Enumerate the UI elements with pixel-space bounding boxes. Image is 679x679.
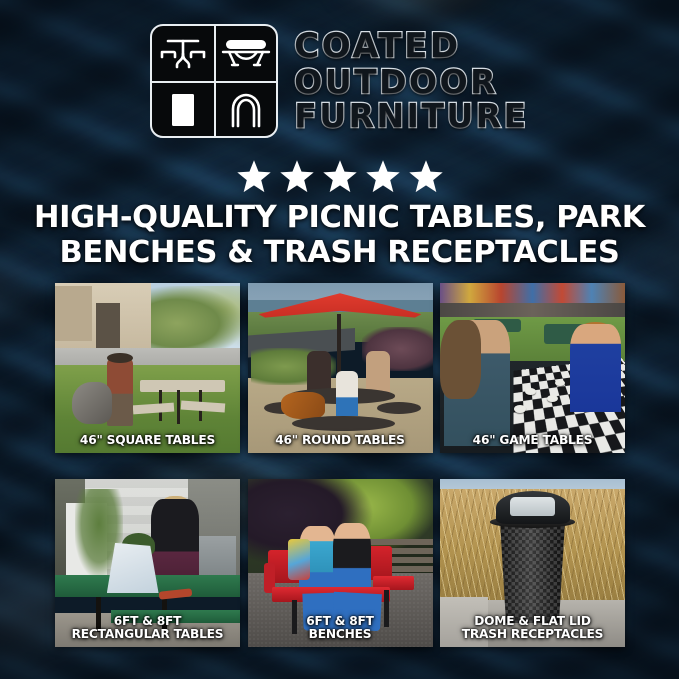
poster-root: COATED OUTDOOR FURNITURE HIGH-QUALITY PI… xyxy=(0,0,679,679)
caption-line-1: DOME & FLAT LID xyxy=(474,614,591,628)
product-photo-round-tables xyxy=(248,283,433,453)
headline-line-1: HIGH-QUALITY PICNIC TABLES, PARK xyxy=(34,200,645,235)
logo-wordmark: COATED OUTDOOR FURNITURE xyxy=(294,29,528,133)
logo-mark xyxy=(150,24,278,138)
star-icon xyxy=(280,160,314,193)
product-caption: 6FT & 8FT RECTANGULAR TABLES xyxy=(55,615,240,641)
product-photo-square-tables xyxy=(55,283,240,453)
caption-line-2: BENCHES xyxy=(252,628,429,641)
caption-line-1: 46" GAME TABLES xyxy=(473,433,593,447)
caption-line-1: 6FT & 8FT xyxy=(306,614,374,628)
product-tile-round-tables[interactable]: 46" ROUND TABLES xyxy=(248,283,433,453)
brand-header: COATED OUTDOOR FURNITURE xyxy=(0,24,679,138)
product-grid: 46" SQUARE TABLES xyxy=(55,283,625,647)
page-title: HIGH-QUALITY PICNIC TABLES, PARK BENCHES… xyxy=(26,200,653,271)
caption-line-1: 46" SQUARE TABLES xyxy=(80,433,215,447)
product-photo-game-tables xyxy=(440,283,625,453)
bike-rack-icon xyxy=(214,81,276,136)
star-icon xyxy=(409,160,443,193)
logo-word-furniture: FURNITURE xyxy=(294,99,528,133)
product-caption: 46" GAME TABLES xyxy=(440,434,625,447)
product-tile-game-tables[interactable]: 46" GAME TABLES xyxy=(440,283,625,453)
product-tile-benches[interactable]: 6FT & 8FT BENCHES xyxy=(248,479,433,647)
star-rating xyxy=(0,160,679,193)
caption-line-1: 6FT & 8FT xyxy=(114,614,182,628)
caption-line-1: 46" ROUND TABLES xyxy=(275,433,405,447)
trash-receptacle-icon xyxy=(152,81,214,136)
picnic-table-icon xyxy=(152,26,214,81)
headline-line-2: BENCHES & TRASH RECEPTACLES xyxy=(26,235,653,270)
product-tile-trash-receptacles[interactable]: DOME & FLAT LID TRASH RECEPTACLES xyxy=(440,479,625,647)
product-caption: DOME & FLAT LID TRASH RECEPTACLES xyxy=(440,615,625,641)
caption-line-2: TRASH RECEPTACLES xyxy=(444,628,621,641)
star-icon xyxy=(366,160,400,193)
product-caption: 46" ROUND TABLES xyxy=(248,434,433,447)
product-tile-square-tables[interactable]: 46" SQUARE TABLES xyxy=(55,283,240,453)
product-caption: 6FT & 8FT BENCHES xyxy=(248,615,433,641)
star-icon xyxy=(237,160,271,193)
star-icon xyxy=(323,160,357,193)
logo-word-outdoor: OUTDOOR xyxy=(294,65,498,99)
park-bench-icon xyxy=(214,26,276,81)
logo-word-coated: COATED xyxy=(294,29,460,64)
caption-line-2: RECTANGULAR TABLES xyxy=(59,628,236,641)
product-tile-rectangular-tables[interactable]: 6FT & 8FT RECTANGULAR TABLES xyxy=(55,479,240,647)
product-caption: 46" SQUARE TABLES xyxy=(55,434,240,447)
